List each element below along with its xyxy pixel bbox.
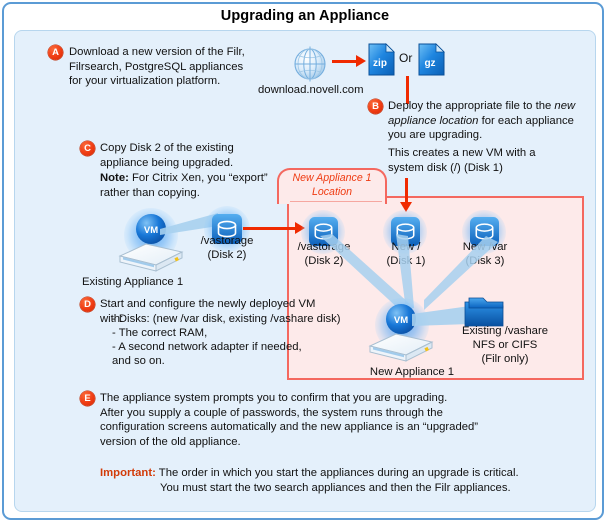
new-appliance-location-label: New Appliance 1 Location (277, 172, 387, 199)
vashare-caption: Existing /vashare NFS or CIFS (Filr only… (440, 324, 570, 366)
svg-text:VM: VM (394, 315, 408, 326)
step-e-text: The appliance system prompts you to conf… (100, 391, 570, 449)
gz-file-icon: gz (418, 43, 445, 76)
step-c-note-label: Note: (100, 172, 129, 184)
svg-text:VM: VM (144, 225, 158, 236)
step-c-text: Copy Disk 2 of the existing appliance be… (100, 141, 285, 170)
globe-caption: download.novell.com (258, 83, 362, 97)
existing-disk-caption: /vastorage (Disk 2) (184, 234, 270, 262)
step-b-line3: you are upgrading. (388, 129, 482, 141)
diagram-page: Upgrading an Appliance New Appliance 1 L… (0, 0, 610, 525)
step-d-bullet-3: and so on. (112, 354, 347, 369)
step-badge-c: C (80, 141, 95, 156)
globe-icon (290, 44, 330, 84)
step-b-text: Deploy the appropriate file to the newap… (388, 99, 588, 143)
important-label: Important: (100, 467, 156, 479)
new-appliance-caption: New Appliance 1 (352, 365, 472, 379)
step-badge-e: E (80, 391, 95, 406)
arrow-globe-to-zip (332, 60, 358, 63)
important-line1: The order in which you start the applian… (156, 467, 519, 479)
step-badge-a: A (48, 45, 63, 60)
step-b-paragraph-2: This creates a new VM with a system disk… (388, 146, 588, 175)
step-b-line2-post: for each appliance (478, 115, 573, 127)
step-d-bullet-2: - A second network adapter if needed, (112, 340, 347, 355)
step-badge-d: D (80, 297, 95, 312)
step-c-note: Note: For Citrix Xen, you “export” rathe… (100, 171, 290, 200)
important-line2: You must start the two search appliances… (100, 481, 511, 496)
step-d-bullet-1: - The correct RAM, (112, 326, 347, 341)
svg-text:zip: zip (373, 58, 387, 69)
zip-file-icon: zip (368, 43, 395, 76)
arrow-copy-disk2 (243, 227, 297, 230)
step-badge-b: B (368, 99, 383, 114)
important-note: Important: The order in which you start … (100, 466, 580, 495)
arrow-globe-to-zip-head (356, 55, 366, 67)
step-b-line1-em: new (554, 100, 575, 112)
tab-divider (290, 201, 382, 202)
step-b-line2-em: appliance location (388, 115, 478, 127)
page-title: Upgrading an Appliance (0, 8, 610, 24)
or-label: Or (399, 51, 412, 66)
existing-appliance-caption: Existing Appliance 1 (82, 275, 222, 289)
step-b-line1-pre: Deploy the appropriate file to the (388, 100, 554, 112)
svg-text:gz: gz (424, 58, 435, 69)
step-d-bullet-0: - Disks: (new /var disk, existing /vasha… (112, 312, 347, 327)
arrow-to-new-root-disk (405, 178, 408, 204)
step-a-text: Download a new version of the Filr, Filr… (69, 45, 284, 89)
